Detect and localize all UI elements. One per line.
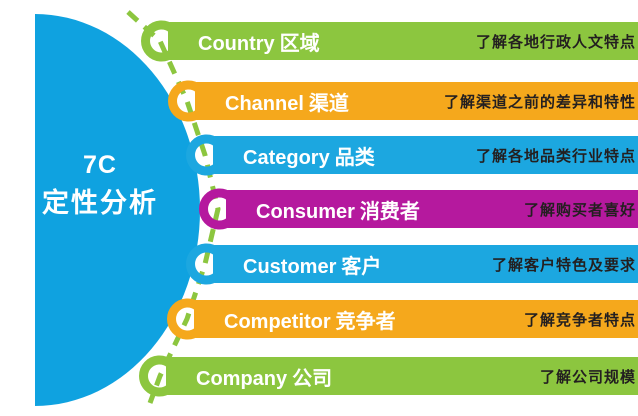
row-label-en-competitor: Competitor xyxy=(224,311,331,333)
row-label-cn-customer: 客户 xyxy=(341,256,381,278)
row-label-en-country: Country xyxy=(198,33,275,55)
row-bar-competitor: Competitor竞争者 了解竞争者特点 xyxy=(194,300,638,338)
c-ring-icon xyxy=(164,297,208,341)
row-label-consumer: Consumer消费者 xyxy=(226,195,420,224)
row-bar-customer: Customer客户 了解客户特色及要求 xyxy=(213,245,638,283)
row-desc-competitor: 了解竞争者特点 xyxy=(524,309,638,330)
row-desc-channel: 了解渠道之前的差异和特性 xyxy=(444,91,638,112)
row-label-category: Category品类 xyxy=(213,141,375,170)
c-ring-icon xyxy=(138,19,182,63)
row-label-cn-competitor: 竞争者 xyxy=(336,311,396,333)
c-ring-icon xyxy=(165,79,209,123)
row-label-cn-category: 品类 xyxy=(335,147,375,169)
row-desc-country: 了解各地行政人文特点 xyxy=(476,31,638,52)
c-ring-icon xyxy=(196,187,240,231)
row-desc-company: 了解公司规模 xyxy=(540,366,638,387)
row-label-en-consumer: Consumer xyxy=(256,201,355,223)
row-desc-customer: 了解客户特色及要求 xyxy=(492,254,638,275)
c-ring-icon xyxy=(136,354,180,398)
row-label-company: Company公司 xyxy=(166,362,332,391)
row-bar-consumer: Consumer消费者 了解购买者喜好 xyxy=(226,190,638,228)
row-desc-consumer: 了解购买者喜好 xyxy=(524,199,638,220)
row-label-cn-company: 公司 xyxy=(292,368,332,390)
row-label-en-channel: Channel xyxy=(225,93,304,115)
row-label-en-category: Category xyxy=(243,147,330,169)
row-label-competitor: Competitor竞争者 xyxy=(194,305,396,334)
row-desc-category: 了解各地品类行业特点 xyxy=(476,145,638,166)
row-bar-channel: Channel渠道 了解渠道之前的差异和特性 xyxy=(195,82,638,120)
row-bar-category: Category品类 了解各地品类行业特点 xyxy=(213,136,638,174)
row-label-country: Country区域 xyxy=(168,27,320,56)
row-bar-country: Country区域 了解各地行政人文特点 xyxy=(168,22,638,60)
c-ring-icon xyxy=(183,133,227,177)
row-label-cn-channel: 渠道 xyxy=(309,93,349,115)
row-label-en-customer: Customer xyxy=(243,256,336,278)
row-label-customer: Customer客户 xyxy=(213,250,381,279)
hero-petal-shape xyxy=(35,14,200,406)
row-label-cn-country: 区域 xyxy=(280,33,320,55)
row-bar-company: Company公司 了解公司规模 xyxy=(166,357,638,395)
row-label-channel: Channel渠道 xyxy=(195,87,349,116)
row-label-en-company: Company xyxy=(196,368,287,390)
row-label-cn-consumer: 消费者 xyxy=(360,201,420,223)
infographic-canvas: 7C 定性分析 Country区域 了解各地行政人文特点 Channel渠道 了… xyxy=(0,0,638,416)
c-ring-icon xyxy=(183,242,227,286)
